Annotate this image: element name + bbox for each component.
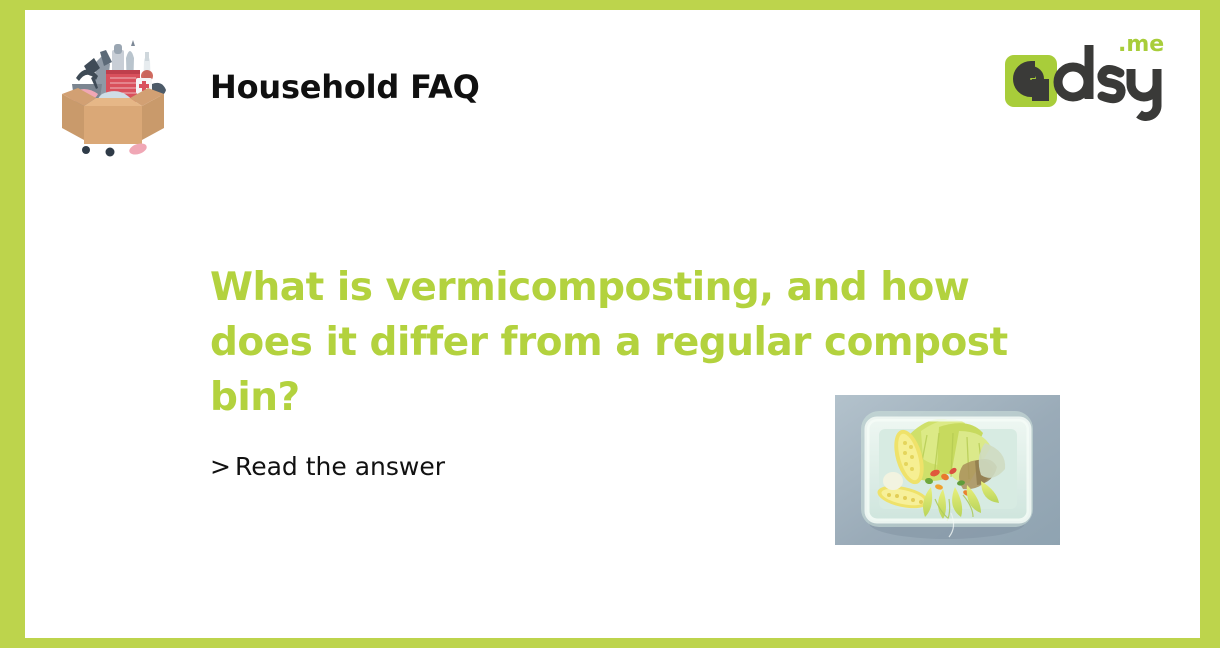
household-box-icon xyxy=(48,32,178,157)
adsy-me-logo[interactable]: .me xyxy=(1003,25,1173,130)
compost-bin-photo xyxy=(835,395,1060,545)
card-content-area: Household FAQ xyxy=(25,10,1200,638)
svg-text:.me: .me xyxy=(1118,32,1164,57)
faq-promo-card: Household FAQ xyxy=(0,0,1220,648)
page-title: Household FAQ xyxy=(210,68,480,106)
read-the-answer-label: Read the answer xyxy=(235,452,445,481)
card-header: Household FAQ xyxy=(25,10,1200,160)
read-the-answer-link[interactable]: >Read the answer xyxy=(210,452,510,481)
chevron-right-icon: > xyxy=(210,452,231,481)
